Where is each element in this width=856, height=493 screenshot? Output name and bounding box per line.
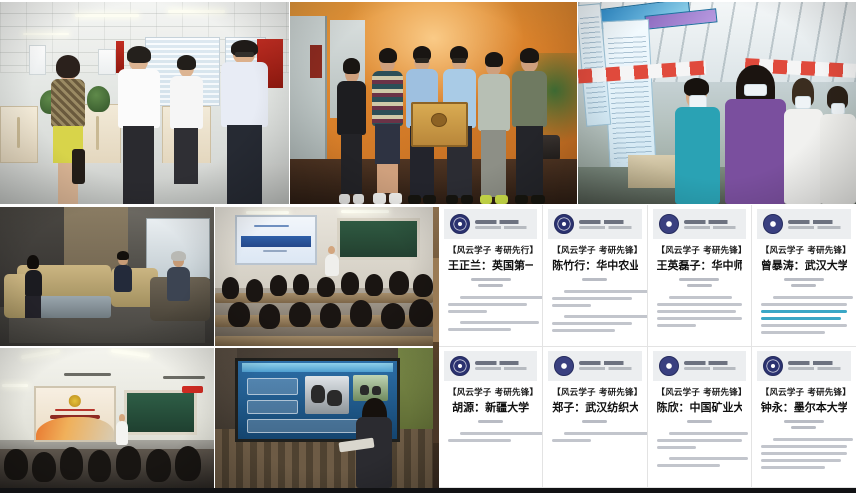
card-org-name xyxy=(579,220,635,229)
card-title: 陈欣：中国矿业大学 xyxy=(657,400,742,415)
card-tag: 【风云学子 考研先锋】 xyxy=(657,387,742,399)
card-paragraph xyxy=(761,438,847,469)
article-card[interactable]: 【风云学子 考研先锋】 陈欣：中国矿业大学 xyxy=(648,347,752,489)
card-paragraph xyxy=(657,432,742,449)
card-paragraph xyxy=(657,296,742,327)
card-paragraph xyxy=(552,432,637,442)
card-inline-link[interactable] xyxy=(761,310,847,313)
card-header xyxy=(548,351,641,381)
university-logo-icon xyxy=(554,214,574,234)
card-paragraph xyxy=(657,457,742,467)
university-logo-icon xyxy=(763,356,783,376)
article-card[interactable]: 【风云学子 考研先锋】 胡源：新疆大学 xyxy=(439,347,543,489)
university-logo-icon xyxy=(450,356,470,376)
top-divider xyxy=(0,0,856,2)
card-paragraph xyxy=(552,290,637,307)
photo-outdoor-fair xyxy=(578,0,856,204)
card-header xyxy=(757,209,851,239)
card-org-name xyxy=(475,361,531,370)
collage-page: 【风云学子 考研先行】 王正兰：英国第一大学 xyxy=(0,0,856,493)
article-card[interactable]: 【风云学子 考研先行】 王正兰：英国第一大学 xyxy=(439,205,543,347)
card-paragraph xyxy=(448,432,533,442)
photo-office-visit xyxy=(0,0,289,204)
card-tag: 【风云学子 考研先锋】 xyxy=(657,245,742,257)
card-subtitle xyxy=(675,278,723,287)
card-title: 陈竹行：华中农业大学 xyxy=(552,258,637,273)
card-header xyxy=(653,351,746,381)
card-subtitle xyxy=(467,278,515,287)
photo-lecture-hall xyxy=(215,207,433,346)
article-card[interactable]: 【风云学子 考研先锋】 陈竹行：华中农业大学 xyxy=(543,205,647,347)
card-header xyxy=(548,209,641,239)
card-title: 王英磊子：华中师范大学 xyxy=(657,258,742,273)
card-header xyxy=(757,351,851,381)
card-paragraph xyxy=(448,296,533,313)
photo-lounge-meeting xyxy=(0,207,214,346)
card-paragraph xyxy=(761,296,847,334)
card-tag: 【风云学子 考研先锋】 xyxy=(552,387,637,399)
card-title: 曾暴涛：武汉大学 xyxy=(761,258,847,273)
university-logo-icon xyxy=(554,356,574,376)
card-subtitle xyxy=(780,278,828,287)
photo-group-plaque xyxy=(290,0,577,204)
card-org-name xyxy=(684,361,740,370)
article-card[interactable]: 【风云学子 考研先锋】 钟永：墨尔本大学 xyxy=(752,347,856,489)
card-inline-link[interactable] xyxy=(761,317,841,320)
card-org-name xyxy=(579,361,635,370)
card-org-name xyxy=(788,361,845,370)
card-tag: 【风云学子 考研先行】 xyxy=(448,245,533,257)
card-org-name xyxy=(475,220,531,229)
card-title: 郑子：武汉纺织大学 xyxy=(552,400,637,415)
card-paragraph xyxy=(552,315,637,332)
photo-presenter-slide xyxy=(215,348,433,488)
card-tag: 【风云学子 考研先锋】 xyxy=(552,245,637,257)
card-header xyxy=(653,209,746,239)
article-card[interactable]: 【风云学子 考研先锋】 曾暴涛：武汉大学 xyxy=(752,205,856,347)
card-tag: 【风云学子 考研先锋】 xyxy=(448,387,533,399)
university-logo-icon xyxy=(659,214,679,234)
card-header xyxy=(444,351,537,381)
card-tag: 【风云学子 考研先锋】 xyxy=(761,387,847,399)
article-card[interactable]: 【风云学子 考研先锋】 郑子：武汉纺织大学 xyxy=(543,347,647,489)
card-title: 王正兰：英国第一大学 xyxy=(448,258,533,273)
card-title: 胡源：新疆大学 xyxy=(448,400,533,415)
card-paragraph xyxy=(448,321,533,331)
card-org-name xyxy=(684,220,740,229)
article-card[interactable]: 【风云学子 考研先锋】 王英磊子：华中师范大学 xyxy=(648,205,752,347)
card-tag: 【风云学子 考研先锋】 xyxy=(761,245,847,257)
card-title: 钟永：墨尔本大学 xyxy=(761,400,847,415)
university-logo-icon xyxy=(659,356,679,376)
card-org-name xyxy=(788,220,845,229)
photo-classroom-projection xyxy=(0,348,214,488)
card-subtitle xyxy=(780,420,828,429)
card-header xyxy=(444,209,537,239)
card-subtitle xyxy=(675,420,723,423)
bottom-bar xyxy=(0,488,856,493)
card-subtitle xyxy=(571,278,619,281)
university-logo-icon xyxy=(763,214,783,234)
card-subtitle xyxy=(571,420,619,423)
card-subtitle xyxy=(467,420,515,423)
university-logo-icon xyxy=(450,214,470,234)
article-card-grid: 【风云学子 考研先行】 王正兰：英国第一大学 xyxy=(439,205,856,488)
